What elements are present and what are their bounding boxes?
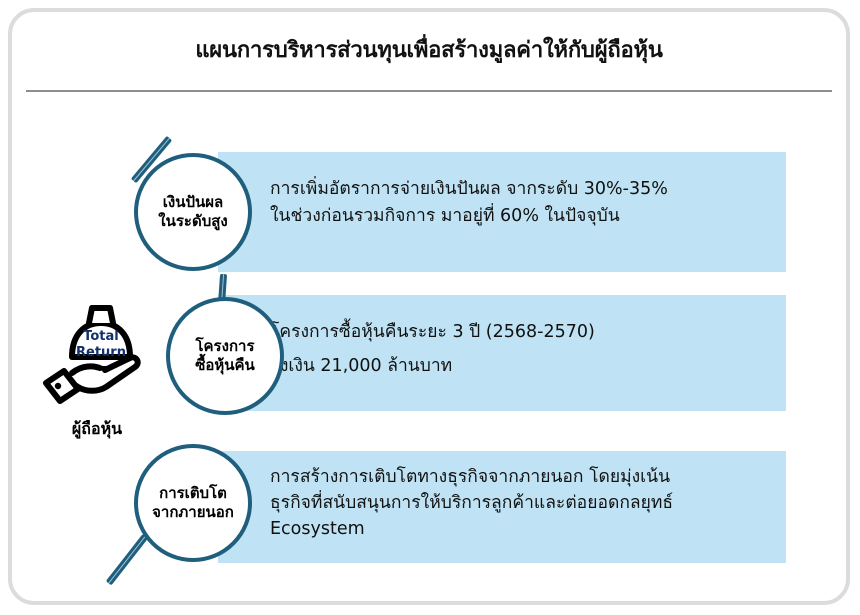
magnifier-circle-buyback[interactable]: โครงการ ซื้อหุ้นคืน bbox=[166, 297, 284, 415]
content-bar-buyback: โครงการซื้อหุ้นคืนระยะ 3 ปี (2568-2570) … bbox=[218, 295, 786, 411]
magnifier-label-buyback-line1: โครงการ bbox=[195, 337, 254, 356]
shareholder-caption: ผู้ถือหุ้น bbox=[32, 417, 162, 442]
magnifier-label-dividend-line2: ในระดับสูง bbox=[158, 212, 227, 231]
content-text-inorganic-growth: การสร้างการเติบโตทางธุรกิจจากภายนอก โดยม… bbox=[270, 465, 774, 543]
slide-frame: แผนการบริหารส่วนทุนเพื่อสร้างมูลค่าให้กั… bbox=[8, 8, 850, 605]
hand-money-bag-svg bbox=[42, 295, 160, 413]
magnifier-label-dividend-line1: เงินปันผล bbox=[163, 193, 223, 212]
content-text-dividend: การเพิ่มอัตราการจ่ายเงินปันผล จากระดับ 3… bbox=[270, 176, 774, 229]
magnifier-handle-3-icon bbox=[106, 534, 148, 586]
magnifier-label-growth-line1: การเติบโต bbox=[159, 484, 227, 503]
magnifier-label-buyback-line2: ซื้อหุ้นคืน bbox=[195, 356, 255, 375]
magnifier-circle-inorganic-growth[interactable]: การเติบโต จากภายนอก bbox=[134, 444, 252, 562]
content-bar-inorganic-growth: การสร้างการเติบโตทางธุรกิจจากภายนอก โดยม… bbox=[218, 451, 786, 563]
magnifier-circle-dividend[interactable]: เงินปันผล ในระดับสูง bbox=[134, 153, 252, 271]
magnifier-label-growth-line2: จากภายนอก bbox=[152, 503, 234, 522]
page-title: แผนการบริหารส่วนทุนเพื่อสร้างมูลค่าให้กั… bbox=[12, 38, 846, 64]
content-bar-dividend: การเพิ่มอัตราการจ่ายเงินปันผล จากระดับ 3… bbox=[218, 152, 786, 272]
hand-holding-money-bag-icon: Total Return bbox=[42, 295, 160, 413]
title-divider bbox=[26, 90, 832, 92]
content-text-buyback: โครงการซื้อหุ้นคืนระยะ 3 ปี (2568-2570) … bbox=[270, 315, 774, 383]
